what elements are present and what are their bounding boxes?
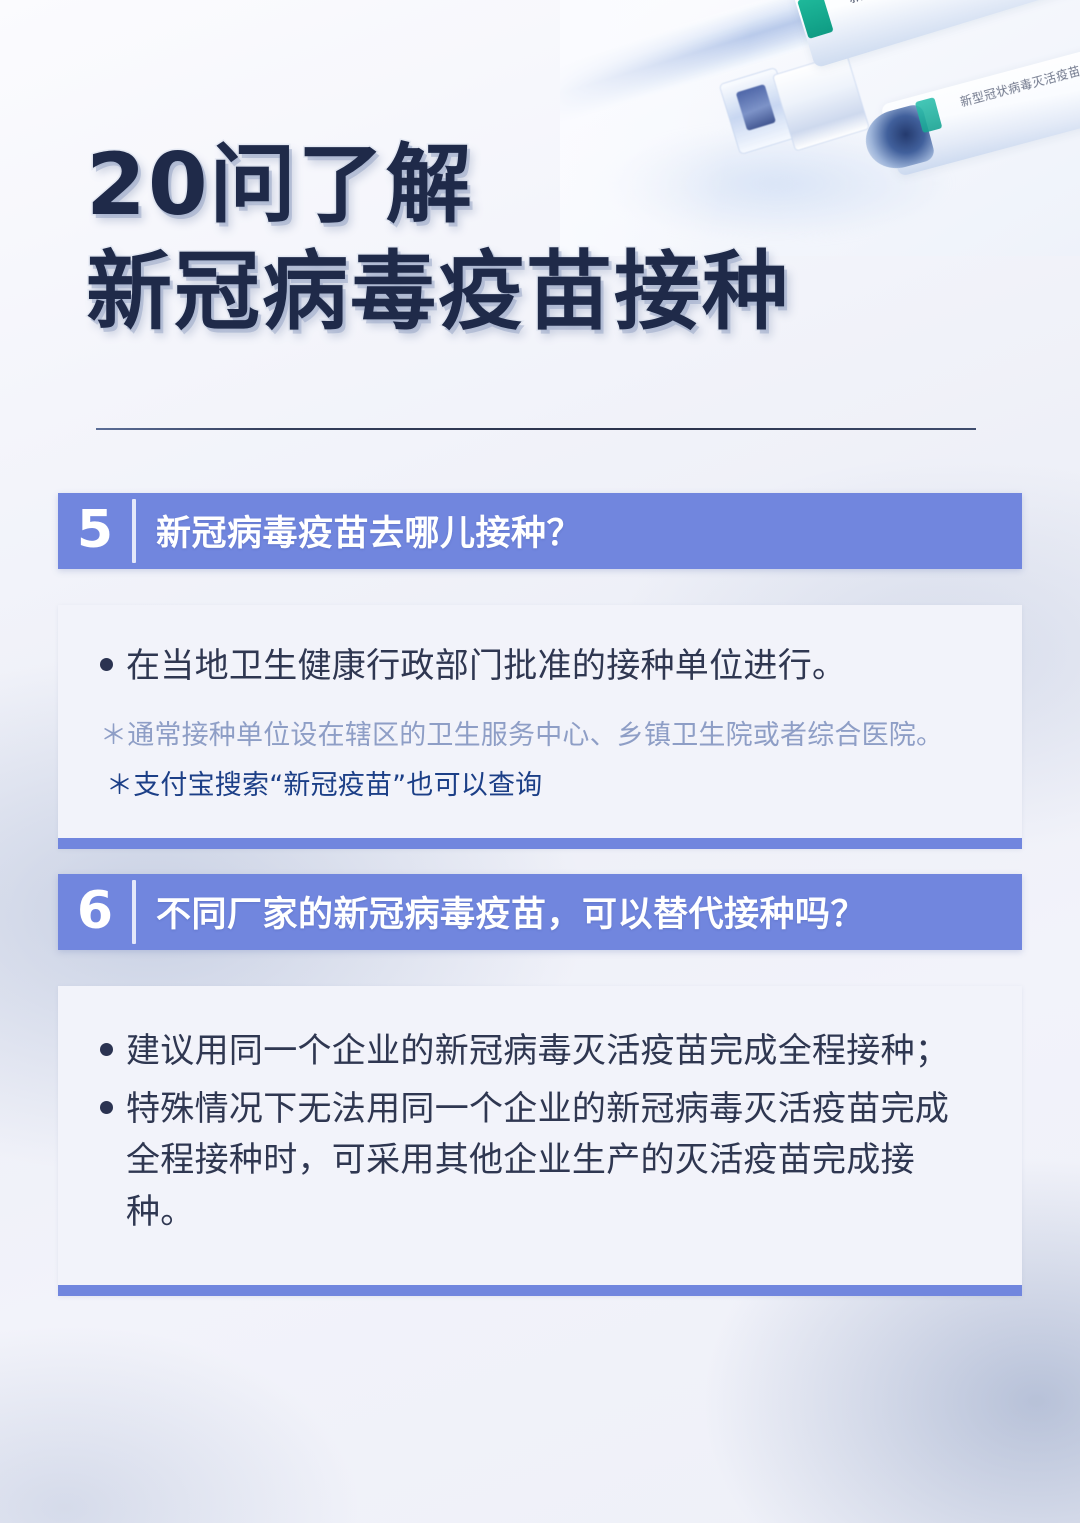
list-item: 特殊情况下无法用同一个企业的新冠病毒灭活疫苗完成全程接种时，可采用其他企业生产的… bbox=[100, 1084, 980, 1239]
title-line-2: 新冠病毒疫苗接种 bbox=[86, 247, 986, 338]
bullet-dot-icon bbox=[100, 1043, 113, 1056]
bullet-dot-icon bbox=[100, 1101, 113, 1114]
bullet-dot-icon bbox=[100, 658, 113, 671]
page-title: 20问了解 新冠病毒疫苗接种 bbox=[86, 140, 986, 338]
qa-number-5: 5 bbox=[58, 493, 132, 569]
infographic-poster: 新型冠状病毒灭活疫苗 新型冠状病毒灭活疫苗 20问了解 新冠病毒疫苗接种 5 新… bbox=[0, 0, 1080, 1523]
qa-header-6: 6 不同厂家的新冠病毒疫苗，可以替代接种吗？ bbox=[58, 874, 1022, 950]
bullet-text: 特殊情况下无法用同一个企业的新冠病毒灭活疫苗完成全程接种时，可采用其他企业生产的… bbox=[126, 1084, 980, 1239]
qa-number-divider bbox=[132, 880, 136, 944]
qa-question-6: 不同厂家的新冠病毒疫苗，可以替代接种吗？ bbox=[136, 874, 1022, 950]
qa-body-6: 建议用同一个企业的新冠病毒灭活疫苗完成全程接种； 特殊情况下无法用同一个企业的新… bbox=[58, 986, 1022, 1296]
qa-number-divider bbox=[132, 499, 136, 563]
qa-body-5: 在当地卫生健康行政部门批准的接种单位进行。 ＊通常接种单位设在辖区的卫生服务中心… bbox=[58, 605, 1022, 849]
qa-question-5: 新冠病毒疫苗去哪儿接种？ bbox=[136, 493, 1022, 569]
vial-label-bottom-text: 新型冠状病毒灭活疫苗 bbox=[958, 39, 1080, 111]
qa-header-5: 5 新冠病毒疫苗去哪儿接种？ bbox=[58, 493, 1022, 569]
qa-section-5: 5 新冠病毒疫苗去哪儿接种？ 在当地卫生健康行政部门批准的接种单位进行。 ＊通常… bbox=[58, 493, 1022, 849]
qa-number-6: 6 bbox=[58, 874, 132, 950]
title-line-1: 20问了解 bbox=[86, 140, 986, 231]
vial-label-top-text: 新型冠状病毒灭活疫苗 bbox=[846, 0, 1080, 8]
bullet-text: 在当地卫生健康行政部门批准的接种单位进行。 bbox=[126, 641, 980, 693]
bullet-text: 建议用同一个企业的新冠病毒灭活疫苗完成全程接种； bbox=[126, 1026, 980, 1078]
qa-section-6: 6 不同厂家的新冠病毒疫苗，可以替代接种吗？ 建议用同一个企业的新冠病毒灭活疫苗… bbox=[58, 874, 1022, 1296]
qa-note-strong-5: ＊支付宝搜索“新冠疫苗”也可以查询 bbox=[100, 765, 980, 808]
list-item: 在当地卫生健康行政部门批准的接种单位进行。 bbox=[100, 641, 980, 693]
qa-note-soft-5: ＊通常接种单位设在辖区的卫生服务中心、乡镇卫生院或者综合医院。 bbox=[100, 715, 980, 758]
title-divider bbox=[96, 428, 976, 430]
list-item: 建议用同一个企业的新冠病毒灭活疫苗完成全程接种； bbox=[100, 1026, 980, 1078]
vaccine-vial-top: 新型冠状病毒灭活疫苗 bbox=[792, 0, 1080, 68]
